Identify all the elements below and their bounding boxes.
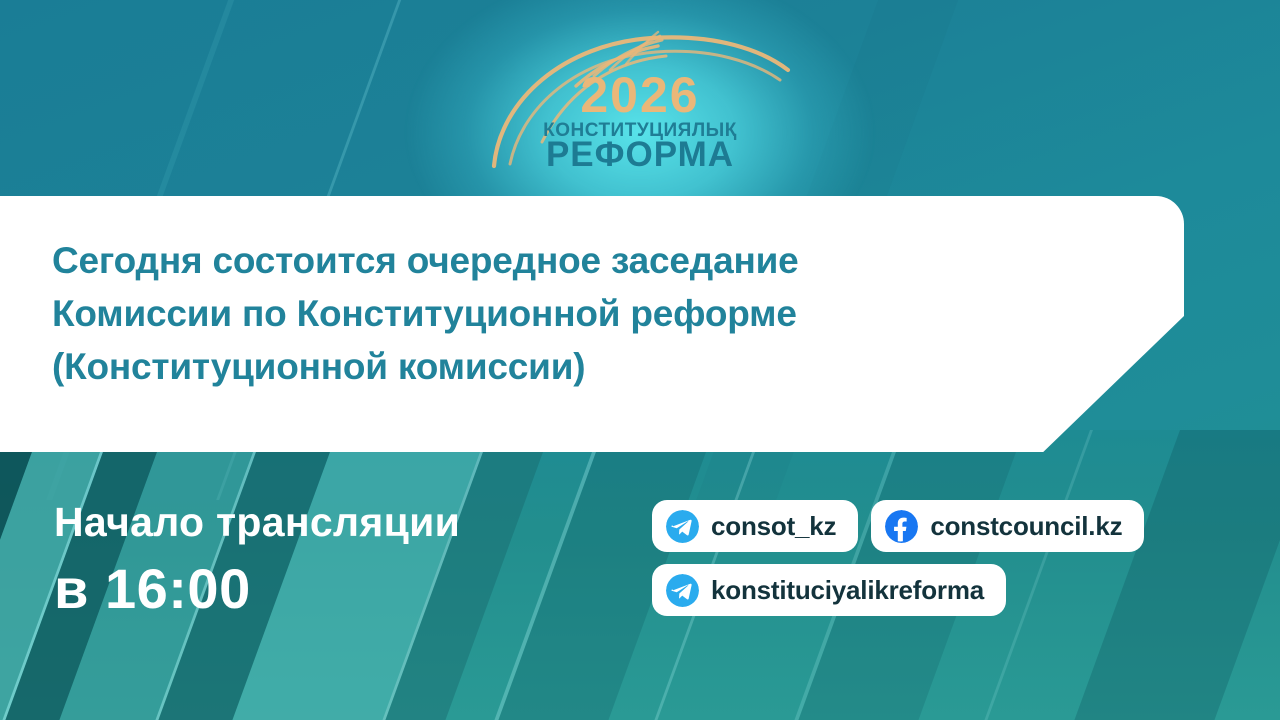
- social-badge-label: konstituciyalikreforma: [711, 573, 984, 607]
- social-badge-facebook-constcouncil[interactable]: constcouncil.kz: [871, 500, 1144, 552]
- title-line-1: Сегодня состоится очередное заседание: [52, 234, 1082, 287]
- logo-year: 2026: [480, 70, 800, 120]
- announcement-title: Сегодня состоится очередное заседание Ко…: [52, 234, 1082, 393]
- facebook-icon: [885, 510, 918, 543]
- broadcast-label: Начало трансляции: [54, 496, 614, 548]
- social-badge-label: consot_kz: [711, 509, 836, 543]
- title-line-2: Комиссии по Конституционной реформе: [52, 287, 1082, 340]
- title-line-3: (Конституционной комиссии): [52, 340, 1082, 393]
- social-badge-telegram-consot[interactable]: consot_kz: [652, 500, 858, 552]
- social-badge-row: konstituciyalikreforma: [652, 564, 1144, 616]
- social-badge-label: constcouncil.kz: [930, 509, 1122, 543]
- reform-logo: 2026 КОНСТИТУЦИЯЛЫҚ РЕФОРМА: [480, 14, 800, 184]
- telegram-icon: [666, 510, 699, 543]
- broadcast-info: Начало трансляции в 16:00: [54, 496, 614, 622]
- telegram-icon: [666, 574, 699, 607]
- poster-canvas: 2026 КОНСТИТУЦИЯЛЫҚ РЕФОРМА Сегодня сост…: [0, 0, 1280, 720]
- broadcast-time: в 16:00: [54, 556, 614, 622]
- social-badges: consot_kz constcouncil.kz konstituciyali…: [652, 500, 1144, 628]
- logo-reforma-line: РЕФОРМА: [480, 136, 800, 174]
- social-badge-telegram-konstituciyalikreforma[interactable]: konstituciyalikreforma: [652, 564, 1006, 616]
- social-badge-row: consot_kz constcouncil.kz: [652, 500, 1144, 552]
